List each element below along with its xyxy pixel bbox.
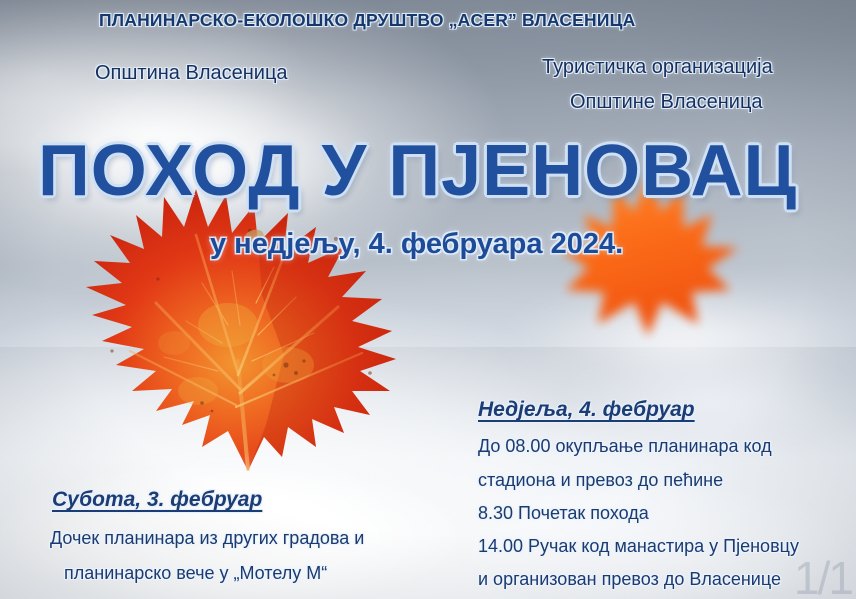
poster-subtitle-date: у недјељу, 4. фебруара 2024. (210, 228, 623, 261)
partner-municipality-left: Општина Власеница (95, 62, 288, 85)
poster-main-title: ПОХОД У ПЈЕНОВАЦ (38, 130, 797, 212)
sunday-heading: Недјеља, 4. фебруар (478, 398, 695, 422)
saturday-line-1: Дочек планинара из других градова и (50, 528, 364, 549)
tourist-organization-line2: Општине Власеница (570, 91, 763, 114)
tourist-organization-line1: Туристичка организација (542, 56, 773, 79)
page-watermark: 1/1 (794, 551, 852, 599)
saturday-heading: Субота, 3. фебруар (52, 488, 262, 512)
poster-canvas: ПЛАНИНАРСКО-ЕКОЛОШКО ДРУШТВО „ACER” ВЛАС… (0, 0, 856, 599)
sunday-line-1: До 08.00 окупљање планинара код (478, 436, 772, 457)
sunday-line-3: 8.30 Почетак похода (478, 503, 649, 524)
sunday-line-2: стадиона и превоз до пећине (478, 470, 723, 491)
organizer-title: ПЛАНИНАРСКО-ЕКОЛОШКО ДРУШТВО „ACER” ВЛАС… (99, 10, 635, 31)
sunday-line-4: 14.00 Ручак код манастира у Пјеновцу (478, 536, 799, 557)
sunday-line-5: и организован превоз до Власенице (478, 569, 781, 590)
saturday-line-2: планинарско вече у „Мотелу М“ (64, 563, 327, 584)
